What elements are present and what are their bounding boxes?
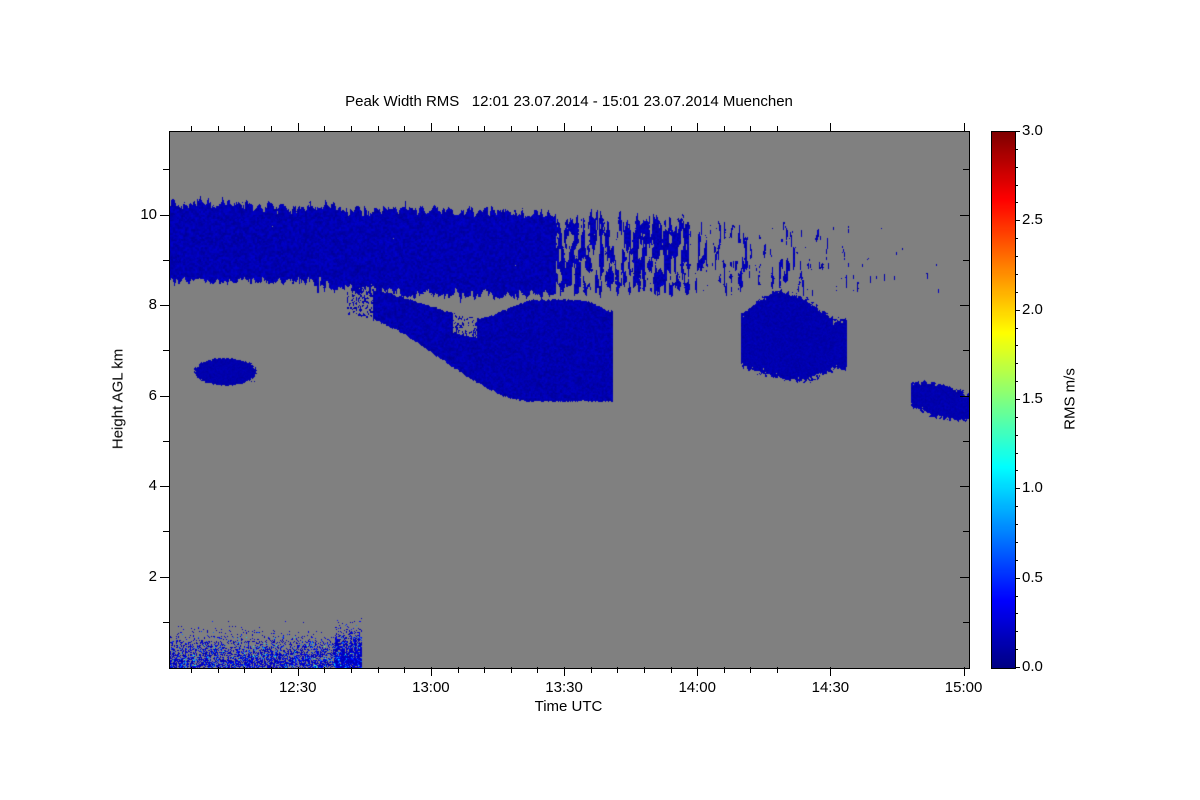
colorbar-tick-minor (1015, 149, 1018, 150)
y-tick-label: 8 (121, 296, 157, 313)
x-tick-label: 12:30 (279, 679, 317, 696)
x-tick-label: 14:30 (812, 679, 850, 696)
x-tick-minor (244, 667, 245, 673)
colorbar-tick-minor (1015, 435, 1018, 436)
y-tick-major-right (960, 305, 969, 306)
colorbar-tick-minor (1015, 613, 1018, 614)
y-tick-major (160, 577, 169, 578)
x-tick-major-top (298, 123, 299, 132)
x-tick-minor (378, 667, 379, 673)
colorbar-tick (1015, 399, 1020, 400)
colorbar-tick-minor (1015, 542, 1018, 543)
colorbar-tick-minor (1015, 560, 1018, 561)
x-tick-minor (617, 667, 618, 673)
x-tick-minor-top (404, 126, 405, 132)
y-tick-major-right (960, 396, 969, 397)
y-tick-minor (163, 169, 169, 170)
x-tick-minor-top (191, 126, 192, 132)
x-tick-minor-top (218, 126, 219, 132)
colorbar-tick-minor (1015, 649, 1018, 650)
colorbar-tick (1015, 667, 1020, 668)
x-tick-minor (671, 667, 672, 673)
x-tick-major (298, 667, 299, 676)
y-tick-minor (163, 441, 169, 442)
y-tick-label: 10 (121, 206, 157, 223)
x-tick-minor-top (378, 126, 379, 132)
colorbar-tick-minor (1015, 238, 1018, 239)
colorbar-tick-minor (1015, 631, 1018, 632)
x-tick-minor-top (671, 126, 672, 132)
figure-canvas: Peak Width RMS 12:01 23.07.2014 - 15:01 … (0, 0, 1200, 800)
x-tick-minor (324, 667, 325, 673)
colorbar-tick-minor (1015, 596, 1018, 597)
x-tick-minor-top (537, 126, 538, 132)
colorbar-tick-label: 1.0 (1022, 479, 1043, 496)
colorbar-gradient (992, 132, 1015, 668)
x-tick-minor-top (617, 126, 618, 132)
colorbar[interactable] (991, 131, 1016, 669)
colorbar-tick-minor (1015, 363, 1018, 364)
colorbar-tick-label: 0.5 (1022, 569, 1043, 586)
x-axis-title: Time UTC (169, 698, 968, 715)
colorbar-tick-label: 1.5 (1022, 390, 1043, 407)
x-tick-major (697, 667, 698, 676)
colorbar-tick-minor (1015, 506, 1018, 507)
x-tick-minor-top (271, 126, 272, 132)
y-tick-minor (163, 622, 169, 623)
x-tick-minor (404, 667, 405, 673)
colorbar-tick-label: 3.0 (1022, 122, 1043, 139)
x-tick-minor (724, 667, 725, 673)
y-tick-minor-right (963, 441, 969, 442)
x-tick-major (830, 667, 831, 676)
y-tick-minor-right (963, 169, 969, 170)
x-tick-major-top (564, 123, 565, 132)
colorbar-tick-minor (1015, 167, 1018, 168)
y-tick-major-right (960, 215, 969, 216)
colorbar-tick-minor (1015, 292, 1018, 293)
x-tick-minor-top (644, 126, 645, 132)
x-tick-minor-top (511, 126, 512, 132)
y-tick-minor-right (963, 260, 969, 261)
y-tick-major (160, 396, 169, 397)
x-tick-minor (750, 667, 751, 673)
colorbar-tick-minor (1015, 453, 1018, 454)
colorbar-tick-minor (1015, 274, 1018, 275)
x-tick-label: 15:00 (945, 679, 983, 696)
x-tick-minor-top (244, 126, 245, 132)
x-tick-minor (271, 667, 272, 673)
x-tick-major (431, 667, 432, 676)
x-tick-minor (591, 667, 592, 673)
colorbar-tick (1015, 220, 1020, 221)
colorbar-tick-minor (1015, 381, 1018, 382)
colorbar-tick-minor (1015, 345, 1018, 346)
x-tick-minor (191, 667, 192, 673)
y-tick-major-right (960, 577, 969, 578)
x-tick-minor (537, 667, 538, 673)
colorbar-tick-minor (1015, 202, 1018, 203)
x-tick-minor (644, 667, 645, 673)
colorbar-tick-label: 2.0 (1022, 301, 1043, 318)
y-tick-major-right (960, 486, 969, 487)
x-tick-minor-top (777, 126, 778, 132)
heatmap-data-layer (170, 132, 969, 668)
colorbar-tick-minor (1015, 524, 1018, 525)
y-tick-minor (163, 531, 169, 532)
x-tick-minor (458, 667, 459, 673)
colorbar-tick-minor (1015, 470, 1018, 471)
x-tick-minor-top (324, 126, 325, 132)
x-tick-minor-top (750, 126, 751, 132)
y-tick-minor (163, 350, 169, 351)
x-tick-minor (218, 667, 219, 673)
x-tick-minor-top (351, 126, 352, 132)
x-tick-minor-top (591, 126, 592, 132)
x-tick-minor (351, 667, 352, 673)
colorbar-tick-label: 2.5 (1022, 211, 1043, 228)
x-tick-minor (511, 667, 512, 673)
x-tick-label: 14:00 (678, 679, 716, 696)
colorbar-tick (1015, 131, 1020, 132)
x-tick-major-top (431, 123, 432, 132)
colorbar-tick-minor (1015, 328, 1018, 329)
x-tick-label: 13:00 (412, 679, 450, 696)
colorbar-tick-label: 0.0 (1022, 658, 1043, 675)
plot-area[interactable] (169, 131, 970, 669)
y-tick-label: 4 (121, 477, 157, 494)
y-tick-minor-right (963, 622, 969, 623)
y-tick-major (160, 486, 169, 487)
y-tick-major (160, 305, 169, 306)
x-tick-minor-top (458, 126, 459, 132)
x-tick-major (964, 667, 965, 676)
x-tick-minor (484, 667, 485, 673)
x-tick-label: 13:30 (545, 679, 583, 696)
x-tick-major (564, 667, 565, 676)
y-tick-major (160, 215, 169, 216)
y-tick-minor-right (963, 531, 969, 532)
x-tick-major-top (697, 123, 698, 132)
colorbar-tick-minor (1015, 256, 1018, 257)
y-axis-title: Height AGL km (110, 349, 127, 449)
colorbar-title: RMS m/s (1062, 368, 1079, 430)
x-tick-major-top (964, 123, 965, 132)
x-tick-minor-top (724, 126, 725, 132)
x-tick-major-top (830, 123, 831, 132)
colorbar-tick (1015, 488, 1020, 489)
colorbar-tick-minor (1015, 185, 1018, 186)
x-tick-minor-top (484, 126, 485, 132)
y-tick-minor-right (963, 350, 969, 351)
y-tick-label: 2 (121, 568, 157, 585)
colorbar-tick (1015, 578, 1020, 579)
x-tick-minor (777, 667, 778, 673)
page-title: Peak Width RMS 12:01 23.07.2014 - 15:01 … (169, 93, 969, 110)
colorbar-tick-minor (1015, 417, 1018, 418)
y-tick-minor (163, 260, 169, 261)
colorbar-tick (1015, 310, 1020, 311)
